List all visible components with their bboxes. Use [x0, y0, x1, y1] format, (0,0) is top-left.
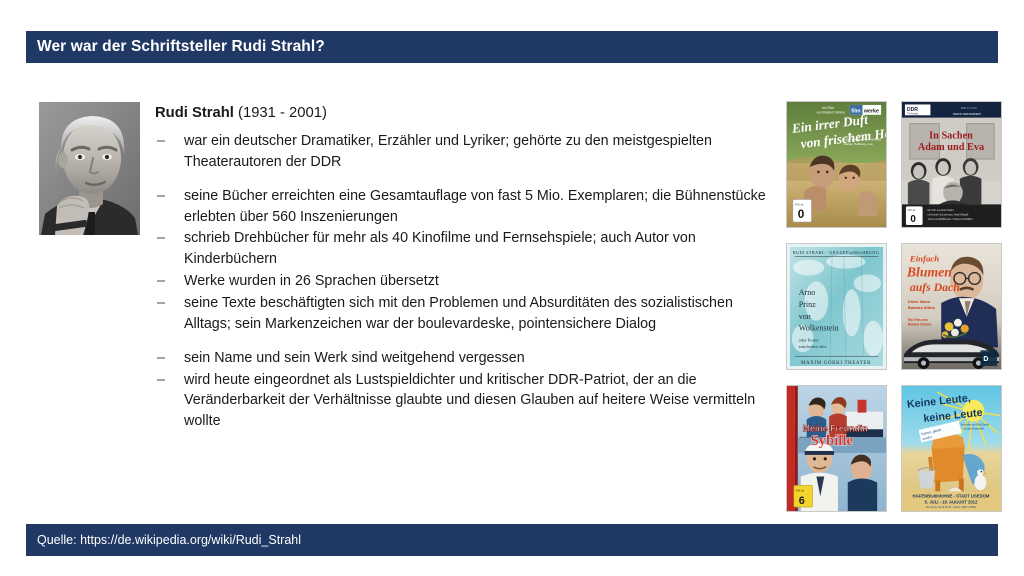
list-item-text: seine Texte beschäftigten sich mit den P… [184, 295, 733, 332]
svg-text:Marian Hellberg u.v.a.: Marian Hellberg u.v.a. [844, 142, 874, 146]
svg-text:FSK ab: FSK ab [796, 489, 805, 492]
list-item: – seine Bücher erreichten eine Gesamtauf… [155, 186, 770, 228]
svg-text:mit: mit [848, 132, 852, 136]
person-name: Rudi Strahl [155, 105, 234, 121]
svg-text:Mit Marion van de Kamp: Mit Marion van de Kamp [800, 436, 824, 439]
page-title: Wer war der Schriftsteller Rudi Strahl? [26, 38, 325, 56]
slide-title-bar: Wer war der Schriftsteller Rudi Strahl? [26, 31, 998, 63]
svg-text:FSK ab: FSK ab [795, 202, 804, 206]
svg-text:oder Kader: oder Kader [799, 337, 820, 342]
svg-text:mit dem Ensemble: mit dem Ensemble [963, 426, 985, 430]
svg-text:Wolkenstein: Wolkenstein [799, 324, 839, 333]
portrait-photo-rudi-strahl [39, 102, 140, 235]
svg-text:Ein Film von Rudi Strahl: Ein Film von Rudi Strahl [844, 432, 868, 435]
cover-keine-leute-keine-leute: Komm, gleich wird's! Keine Leute, [901, 385, 1002, 512]
list-item-text: Werke wurden in 26 Sprachen übersetzt [184, 273, 439, 289]
svg-text:6: 6 [799, 495, 805, 507]
list-item-text: schrieb Drehbücher für mehr als 40 Kinof… [184, 230, 696, 267]
svg-text:Ein Film von: Ein Film von [908, 318, 928, 322]
svg-text:entscheiden alles: entscheiden alles [799, 344, 827, 349]
list-item: – war ein deutscher Dramatiker, Erzähler… [155, 131, 770, 173]
svg-text:0: 0 [798, 208, 805, 221]
svg-text:Blumen: Blumen [906, 264, 952, 279]
list-item-text: seine Bücher erreichten eine Gesamtaufla… [184, 188, 766, 225]
cover-image-gallery: film werke ein Film von Roland Oehme Ein… [786, 101, 1008, 516]
biography-bullet-list: – war ein deutscher Dramatiker, Erzähler… [155, 131, 770, 432]
svg-text:D: D [983, 356, 988, 363]
cover-arno-prinz-von-wolkenstein: RUDI STRAHL - URAUFF\u00dcHRUNG Arno Pri… [786, 243, 887, 370]
svg-text:Meine Freundin: Meine Freundin [803, 423, 868, 433]
svg-text:Ein Film von Rudi Strahl: Ein Film von Rudi Strahl [927, 209, 954, 212]
svg-text:von: von [799, 312, 811, 321]
list-item-text: war ein deutscher Dramatiker, Erzähler u… [184, 133, 712, 170]
slide-root: Wer war der Schriftsteller Rudi Strahl? [0, 0, 1024, 576]
source-link[interactable]: Quelle: https://de.wikipedia.org/wiki/Ru… [26, 533, 301, 547]
list-item: – seine Texte beschäftigten sich mit den… [155, 293, 770, 335]
svg-text:Arno: Arno [799, 288, 816, 297]
svg-text:0: 0 [910, 214, 916, 225]
svg-text:Dieter Mann: Dieter Mann [908, 299, 931, 304]
list-item: – schrieb Drehbücher für mehr als 40 Kin… [155, 228, 770, 270]
bullet-dash-icon: – [157, 186, 165, 207]
bullet-dash-icon: – [157, 293, 165, 314]
list-item: – Werke wurden in 26 Sprachen übersetzt [155, 271, 770, 292]
cover-ein-irrer-duft-von-frischem-heu: film werke ein Film von Roland Oehme Ein… [786, 101, 887, 228]
person-heading: Rudi Strahl (1931 - 2001) [155, 104, 770, 124]
cover-in-sachen-adam-und-eva: DDR TV-Archiv DDR TV 1970 DIGITAL RESTAU… [901, 101, 1002, 228]
svg-text:In Sachen: In Sachen [929, 130, 973, 141]
bullet-dash-icon: – [157, 271, 165, 292]
svg-text:TV-Archiv: TV-Archiv [907, 112, 919, 116]
body-text-column: Rudi Strahl (1931 - 2001) – war ein deut… [155, 104, 770, 433]
svg-text:Roland Oehme: Roland Oehme [908, 323, 932, 327]
bullet-dash-icon: – [157, 348, 165, 369]
cover-einfach-blumen-aufs-dach: Einfach Blumen aufs Dach Dieter Mann Bar… [901, 243, 1002, 370]
svg-text:Mo, Mi, Do, Sa 19.30 Uhr - Kar: Mo, Mi, Do, Sa 19.30 Uhr - Karten: 03877… [926, 506, 976, 509]
svg-text:Komödie von Rudi Strahl: Komödie von Rudi Strahl [961, 422, 990, 426]
svg-text:ein Film: ein Film [822, 106, 834, 110]
list-item-text: sein Name und sein Werk sind weitgehend … [184, 350, 525, 366]
list-item: – wird heute eingeordnet als Lustspieldi… [155, 370, 770, 433]
bullet-dash-icon: – [157, 228, 165, 249]
svg-text:von Roland Oehme: von Roland Oehme [816, 110, 845, 114]
svg-text:DIGITAL RESTAURIERT: DIGITAL RESTAURIERT [953, 112, 981, 116]
svg-text:Adam und Eva: Adam und Eva [918, 142, 984, 153]
slide-footer-bar: Quelle: https://de.wikipedia.org/wiki/Ru… [26, 524, 998, 556]
svg-text:Einfach: Einfach [909, 254, 939, 264]
svg-text:MAXIM GORKI THEATER: MAXIM GORKI THEATER [801, 361, 871, 366]
svg-text:Ursula Werner, Peter Gerson,: Ursula Werner, Peter Gerson, [842, 137, 882, 141]
svg-text:mit Gunter Sonnemann, Heidi We: mit Gunter Sonnemann, Heidi Weigelt [927, 214, 968, 217]
person-lifespan: (1931 - 2001) [234, 105, 327, 121]
list-item-text: wird heute eingeordnet als Lustspieldich… [184, 372, 755, 430]
list-item: – sein Name und sein Werk sind weitgehen… [155, 348, 770, 369]
bullet-dash-icon: – [157, 370, 165, 391]
svg-text:FSK ab: FSK ab [907, 210, 915, 212]
svg-text:DDR TV 1970: DDR TV 1970 [961, 106, 977, 110]
svg-text:5. JULI - 19. AUGUST 2012: 5. JULI - 19. AUGUST 2012 [925, 500, 978, 505]
svg-text:RUDI STRAHL - URAUFF\u00dcHRUN: RUDI STRAHL - URAUFF\u00dcHRUNG [793, 250, 879, 255]
svg-text:Prinz: Prinz [799, 300, 816, 309]
svg-text:aufs Dach: aufs Dach [910, 281, 960, 294]
svg-text:HAFENB\u00dcHNE - STADT USEDOM: HAFENB\u00dcHNE - STADT USEDOM [913, 494, 990, 499]
bullet-dash-icon: – [157, 131, 165, 152]
svg-text:Sybille: Sybille [811, 433, 854, 449]
svg-text:Barbara Dittus: Barbara Dittus [908, 305, 936, 310]
svg-text:Jenny Gr\u00f6llmann, Herbert: Jenny Gr\u00f6llmann, Herbert K\u00f6fer [927, 218, 972, 221]
cover-meine-freundin-sybille: Meine Freundin Sybille Mit Marion van de… [786, 385, 887, 512]
